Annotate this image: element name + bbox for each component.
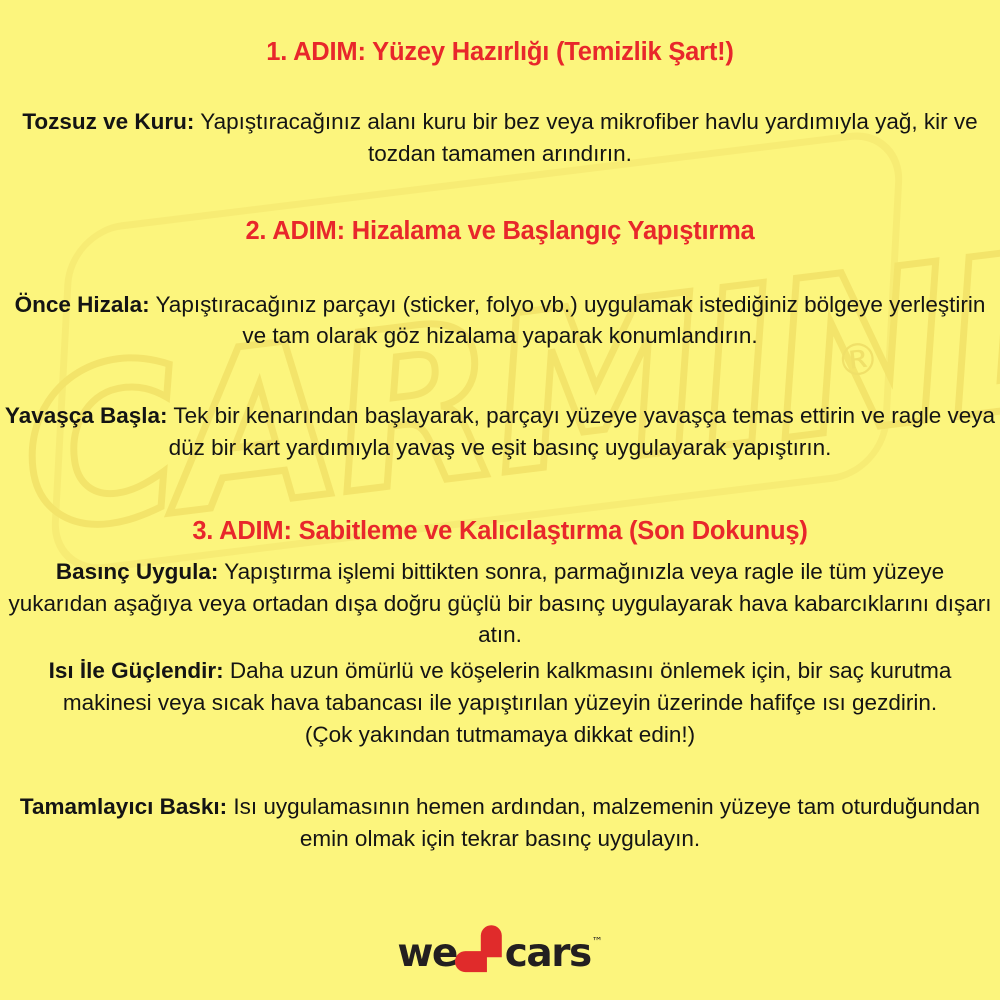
brand-logo-inner: we cars ™ (397, 931, 602, 975)
step-3-paragraph-1: Basınç Uygula: Yapıştırma işlemi bittikt… (0, 556, 1000, 652)
step-1-paragraph-1-body: Yapıştıracağınız alanı kuru bir bez veya… (194, 109, 977, 166)
step-1-heading: 1. ADIM: Yüzey Hazırlığı (Temizlik Şart!… (0, 38, 1000, 67)
step-3-heading: 3. ADIM: Sabitleme ve Kalıcılaştırma (So… (0, 517, 1000, 546)
heart-icon (456, 927, 510, 981)
step-3-paragraph-3-body: (Çok yakından tutmamaya dikkat edin!) (305, 722, 695, 747)
step-2-paragraph-1-body: Yapıştıracağınız parçayı (sticker, folyo… (150, 292, 986, 349)
step-2-paragraph-1: Önce Hizala: Yapıştıracağınız parçayı (s… (0, 289, 1000, 353)
step-1-paragraph-1: Tozsuz ve Kuru: Yapıştıracağınız alanı k… (0, 106, 1000, 170)
step-3-paragraph-4-lead: Tamamlayıcı Baskı: (20, 794, 227, 819)
trademark-icon: ™ (592, 935, 603, 948)
step-2-heading: 2. ADIM: Hizalama ve Başlangıç Yapıştırm… (0, 217, 1000, 246)
brand-logo-text-we: we (397, 934, 456, 973)
step-3-paragraph-3: (Çok yakından tutmamaya dikkat edin!) (0, 719, 1000, 751)
step-3-paragraph-1-lead: Basınç Uygula: (56, 559, 219, 584)
step-3-paragraph-4-body: Isı uygulamasının hemen ardından, malzem… (227, 794, 980, 851)
brand-logo: we cars ™ (0, 924, 1000, 982)
step-3-paragraph-2: Isı İle Güçlendir: Daha uzun ömürlü ve k… (0, 655, 1000, 719)
step-3-paragraph-4: Tamamlayıcı Baskı: Isı uygulamasının hem… (0, 791, 1000, 855)
step-3-paragraph-2-lead: Isı İle Güçlendir: (49, 658, 224, 683)
brand-logo-text-cars: cars (505, 934, 591, 973)
step-2-paragraph-2-body: Tek bir kenarından başlayarak, parçayı y… (168, 403, 996, 460)
poster-canvas: CARMIND ® 1. ADIM: Yüzey Hazırlığı (Temi… (0, 0, 1000, 1000)
step-2-paragraph-2-lead: Yavaşça Başla: (5, 403, 168, 428)
step-2-paragraph-2: Yavaşça Başla: Tek bir kenarından başlay… (0, 400, 1000, 464)
step-1-paragraph-1-lead: Tozsuz ve Kuru: (22, 109, 194, 134)
instruction-content: 1. ADIM: Yüzey Hazırlığı (Temizlik Şart!… (0, 38, 1000, 855)
step-2-paragraph-1-lead: Önce Hizala: (15, 292, 150, 317)
